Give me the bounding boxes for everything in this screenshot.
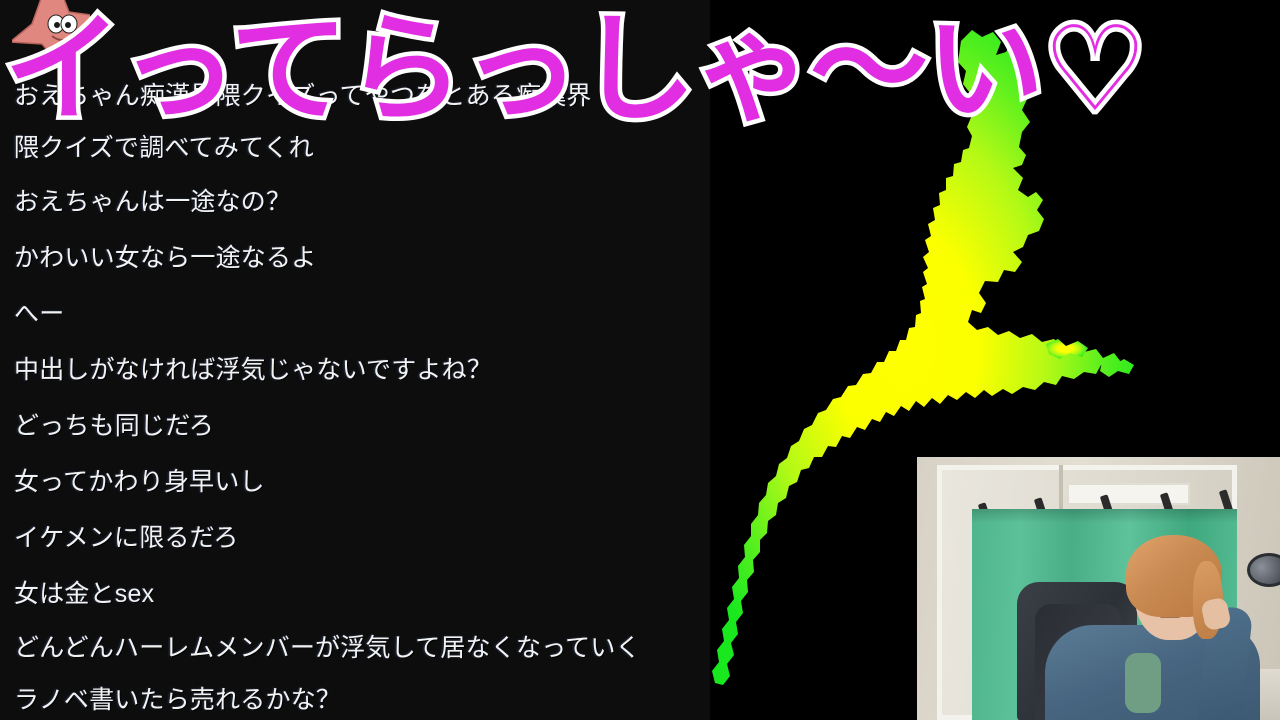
chat-message: かわいい女なら一途なるよ bbox=[0, 230, 710, 286]
chat-message: おえちゃんは一途なの？ bbox=[0, 174, 710, 230]
patrick-star-icon bbox=[12, 0, 90, 68]
chat-message-list: おえちゃん痴漢界隈クイズってやつをとある痴漢界 隈クイズで調べてみてくれ おえち… bbox=[0, 70, 710, 720]
chat-message: どんどんハーレムメンバーが浮気して居なくなっていく bbox=[0, 622, 710, 674]
chat-message: どっちも同じだろ bbox=[0, 398, 710, 454]
chat-message: ラノベ書いたら売れるかな？ bbox=[0, 674, 710, 720]
chat-panel: おえちゃん痴漢界隈クイズってやつをとある痴漢界 隈クイズで調べてみてくれ おえち… bbox=[0, 0, 710, 720]
stream-screen: おえちゃん痴漢界隈クイズってやつをとある痴漢界 隈クイズで調べてみてくれ おえち… bbox=[0, 0, 1280, 720]
chat-message: イケメンに限るだろ bbox=[0, 510, 710, 566]
chat-message: 女ってかわり身早いし bbox=[0, 454, 710, 510]
chat-message: 女は金とsex bbox=[0, 566, 710, 622]
chat-message: おえちゃん痴漢界隈クイズってやつをとある痴漢界 bbox=[0, 70, 710, 122]
chat-message: 中出しがなければ浮気じゃないですよね？ bbox=[0, 342, 710, 398]
webcam-inset[interactable] bbox=[917, 457, 1280, 720]
streamer-shirt bbox=[1125, 653, 1161, 713]
chat-message: へー bbox=[0, 286, 710, 342]
door-panel bbox=[1067, 483, 1190, 505]
chat-message: 隈クイズで調べてみてくれ bbox=[0, 122, 710, 174]
